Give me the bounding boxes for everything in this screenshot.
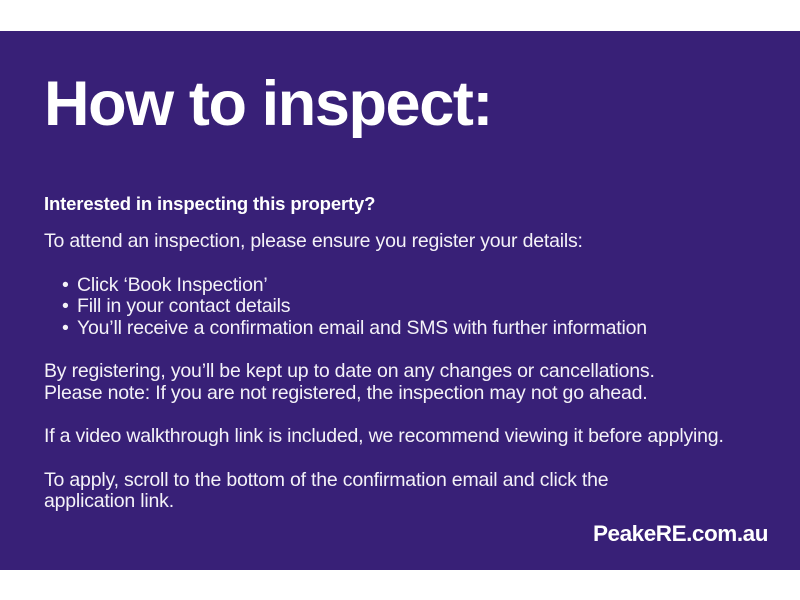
spacer	[44, 253, 756, 275]
list-item: • Click ‘Book Inspection’	[77, 275, 756, 297]
intro-paragraph: To attend an inspection, please ensure y…	[44, 231, 756, 253]
bullet-icon: •	[62, 296, 69, 318]
list-item-label: Click ‘Book Inspection’	[77, 274, 268, 296]
spacer	[44, 448, 756, 470]
purple-panel: How to inspect: Interested in inspecting…	[0, 31, 800, 570]
list-item-label: You’ll receive a confirmation email and …	[77, 317, 647, 339]
bullet-icon: •	[62, 318, 69, 340]
registration-note-line-2: Please note: If you are not registered, …	[44, 383, 756, 405]
brand-website: PeakeRE.com.au	[593, 521, 768, 547]
page-title: How to inspect:	[44, 73, 492, 136]
list-item: • Fill in your contact details	[77, 296, 756, 318]
instructions-block: Interested in inspecting this property? …	[44, 193, 756, 513]
apply-instructions-line-2: application link.	[44, 491, 756, 513]
steps-list: • Click ‘Book Inspection’ • Fill in your…	[44, 275, 756, 340]
spacer	[44, 404, 756, 426]
spacer	[44, 339, 756, 361]
spacer	[44, 214, 756, 231]
registration-note-line-1: By registering, you’ll be kept up to dat…	[44, 361, 756, 383]
apply-instructions-line-1: To apply, scroll to the bottom of the co…	[44, 470, 756, 492]
video-walkthrough-note: If a video walkthrough link is included,…	[44, 426, 756, 448]
bullet-icon: •	[62, 275, 69, 297]
list-item: • You’ll receive a confirmation email an…	[77, 318, 756, 340]
slide-canvas: How to inspect: Interested in inspecting…	[0, 0, 800, 600]
list-item-label: Fill in your contact details	[77, 295, 290, 317]
subheading: Interested in inspecting this property?	[44, 193, 756, 214]
